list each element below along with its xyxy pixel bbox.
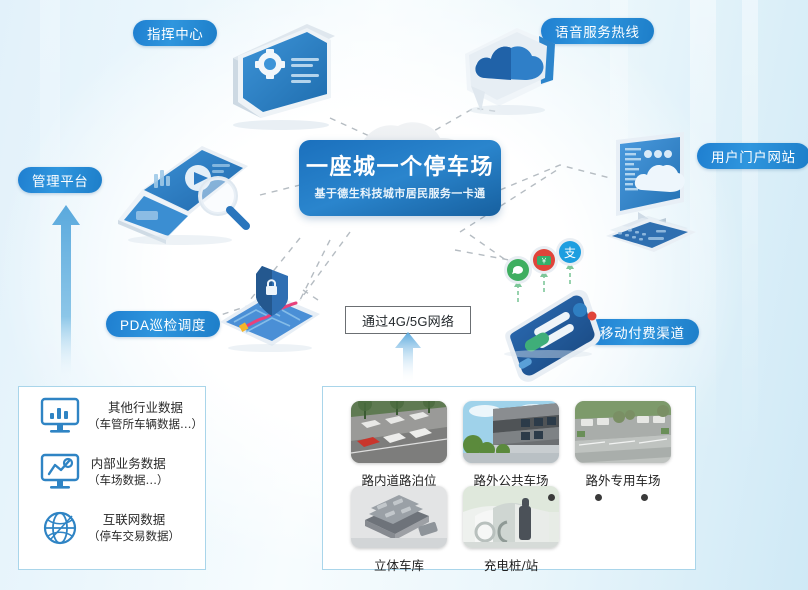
more-parking-types-indicator bbox=[548, 494, 648, 501]
infographic-canvas: 一座城一个停车场 基于德生科技城市居民服务一卡通 指挥中心 bbox=[0, 0, 808, 590]
gear-monitor-icon bbox=[215, 22, 345, 132]
network-up-arrow-icon bbox=[388, 332, 428, 384]
data-source-detail: （车场数据…） bbox=[88, 473, 169, 489]
data-source-item[interactable]: 其他行业数据 （车管所车辆数据…） bbox=[38, 396, 203, 436]
parking-type-tile[interactable]: 路外公共车场 bbox=[463, 401, 559, 489]
node-label-pda-inspection[interactable]: PDA巡检调度 bbox=[106, 311, 220, 337]
data-source-title: 互联网数据 bbox=[103, 511, 166, 528]
bar-chart-monitor-icon bbox=[38, 396, 82, 436]
dedicated-parking-lot-photo bbox=[575, 401, 671, 463]
ev-charging-station-photo bbox=[463, 486, 559, 548]
data-source-item[interactable]: 互联网数据 （停车交易数据） bbox=[38, 508, 180, 548]
public-parking-building-photo bbox=[463, 401, 559, 463]
network-note-box: 通过4G/5G网络 bbox=[345, 306, 471, 334]
dot bbox=[548, 494, 555, 501]
svg-text:￥: ￥ bbox=[541, 257, 548, 265]
data-source-item[interactable]: 内部业务数据 （车场数据…） bbox=[38, 452, 169, 492]
parking-type-tile[interactable]: 充电桩/站 bbox=[463, 486, 559, 574]
central-banner: 一座城一个停车场 基于德生科技城市居民服务一卡通 bbox=[299, 140, 501, 216]
node-label-management[interactable]: 管理平台 bbox=[18, 167, 102, 193]
street-side-parking-photo bbox=[351, 401, 447, 463]
data-source-title: 内部业务数据 bbox=[91, 455, 166, 472]
globe-network-icon bbox=[38, 508, 82, 548]
parking-type-tile[interactable]: 立体车库 bbox=[351, 486, 447, 574]
dot bbox=[641, 494, 648, 501]
smartphone-apps-icon: ￥ 支 bbox=[482, 232, 612, 360]
banner-title: 一座城一个停车场 bbox=[306, 155, 494, 179]
management-up-arrow-icon bbox=[48, 205, 84, 385]
parking-type-tile[interactable]: 路内道路泊位 bbox=[351, 401, 447, 489]
mechanical-parking-tower-photo bbox=[351, 486, 447, 548]
background-streak bbox=[742, 0, 758, 590]
parking-type-caption: 充电桩/站 bbox=[463, 555, 559, 574]
parking-type-caption: 路外专用车场 bbox=[575, 470, 671, 489]
line-chart-monitor-icon bbox=[38, 452, 82, 492]
data-source-detail: （车管所车辆数据…） bbox=[88, 417, 203, 433]
data-source-detail: （停车交易数据） bbox=[88, 529, 180, 545]
node-label-command-center[interactable]: 指挥中心 bbox=[133, 20, 217, 46]
parking-type-caption: 立体车库 bbox=[351, 555, 447, 574]
data-source-title: 其他行业数据 bbox=[108, 399, 183, 416]
parking-type-tile[interactable]: 路外专用车场 bbox=[575, 401, 671, 489]
tablet-shield-icon bbox=[216, 262, 326, 354]
laptop-search-icon bbox=[100, 128, 260, 243]
speech-cloud-icon bbox=[455, 22, 565, 122]
banner-subtitle: 基于德生科技城市居民服务一卡通 bbox=[315, 185, 486, 201]
svg-text:支: 支 bbox=[564, 246, 576, 260]
dot bbox=[595, 494, 602, 501]
